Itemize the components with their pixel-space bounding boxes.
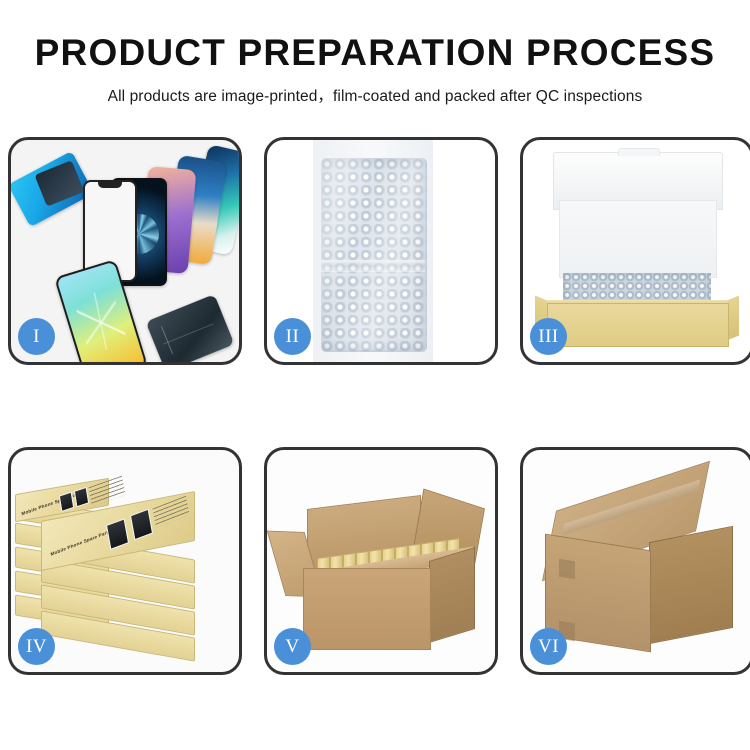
box-screen-image xyxy=(130,509,153,541)
blue-adhesive-frame-icon xyxy=(11,151,94,227)
step-panel-6: VI xyxy=(520,447,750,675)
product-preparation-infographic: PRODUCT PREPARATION PROCESS All products… xyxy=(0,0,750,750)
step-panel-5: V xyxy=(264,447,498,675)
box-spec-lines xyxy=(152,496,189,528)
white-box-inner-wall xyxy=(559,200,717,278)
step-badge-4: IV xyxy=(18,628,55,665)
step-panel-1: I xyxy=(8,137,242,365)
phone-opened-backplate-icon xyxy=(146,294,235,362)
steps-grid: I II III xyxy=(8,137,745,675)
box-screen-image xyxy=(106,518,129,550)
step-badge-1: I xyxy=(18,318,55,355)
box-spec-lines xyxy=(89,476,126,507)
page-title: PRODUCT PREPARATION PROCESS xyxy=(0,34,750,71)
retail-box-label: Mobile Phone Spare Parts xyxy=(50,529,111,557)
step-panel-3: III xyxy=(520,137,750,365)
tape-tab-upper xyxy=(559,559,575,580)
step-badge-3: III xyxy=(530,318,567,355)
step-badge-6: VI xyxy=(530,628,567,665)
header: PRODUCT PREPARATION PROCESS All products… xyxy=(0,0,750,106)
page-subtitle: All products are image-printed，film-coat… xyxy=(0,84,750,106)
step-badge-2: II xyxy=(274,318,311,355)
kraft-box-front-icon xyxy=(547,303,729,347)
carton-right-side xyxy=(429,547,475,643)
carton-front-face xyxy=(303,568,431,650)
carton-right-side xyxy=(649,526,733,644)
box-screen-image xyxy=(59,491,74,512)
box-screen-image xyxy=(74,487,89,508)
step-panel-2: II xyxy=(264,137,498,365)
step-badge-5: V xyxy=(274,628,311,665)
plastic-sheen-overlay xyxy=(321,158,425,350)
step-panel-4: Mobile Phone Spare Parts Mobile Phone Sp… xyxy=(8,447,242,675)
